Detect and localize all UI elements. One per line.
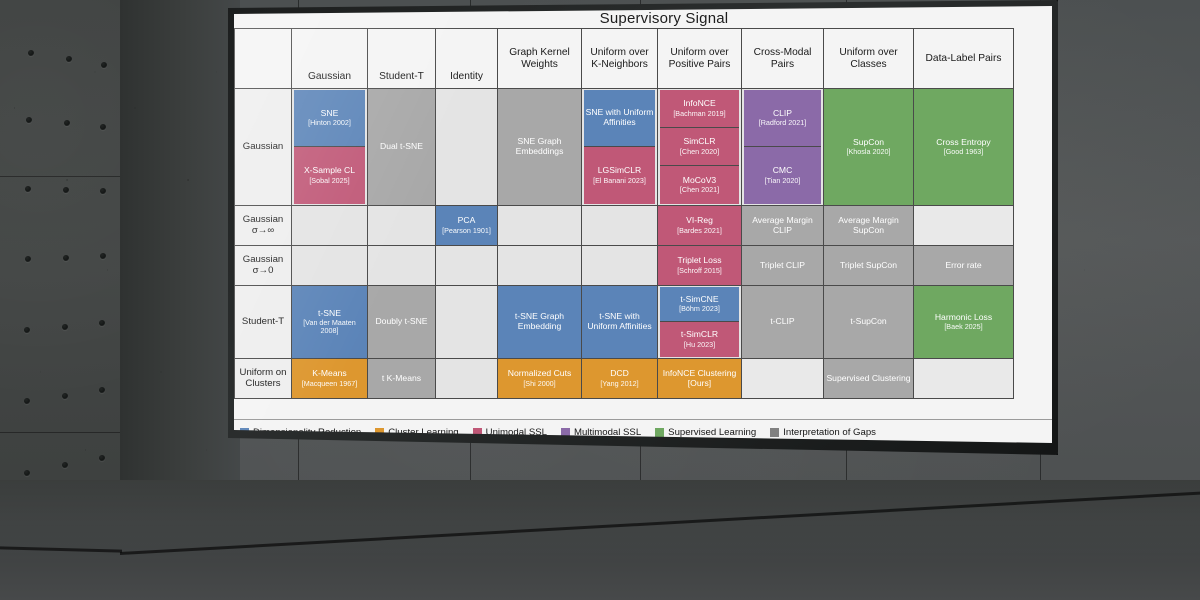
cell-reference: [Khosla 2020] — [826, 148, 911, 156]
cell-empty-r1-c1 — [368, 206, 436, 246]
cell-split-r0-c4: SNE with Uniform AffinitiesLGSimCLR[El B… — [582, 89, 658, 206]
table-row: Uniform on ClustersK-Means[Macqueen 1967… — [235, 359, 1014, 399]
cell-name: Supervised Clustering — [826, 374, 911, 384]
row-header-gaussian: Gaussian — [235, 89, 292, 206]
col-header-uniform-over-classes: Uniform over Classes — [824, 29, 914, 89]
floor-reflection — [0, 480, 1200, 600]
cell-cross-entropy: Cross Entropy[Good 1963] — [914, 89, 1014, 206]
cell-t-sne-with-uniform-affinities: t-SNE with Uniform Affinities — [582, 286, 658, 359]
cell-harmonic-loss: Harmonic Loss[Baek 2025] — [914, 286, 1014, 359]
cell-reference: [Baek 2025] — [916, 323, 1011, 331]
cell-triplet-supcon: Triplet SupCon — [824, 246, 914, 286]
cell-name: K-Means — [294, 369, 365, 379]
cell-supervised-clustering: Supervised Clustering — [824, 359, 914, 399]
col-header-identity: Identity — [436, 29, 498, 89]
cell-triplet-clip: Triplet CLIP — [742, 246, 824, 286]
legend-swatch-green-icon — [655, 428, 664, 437]
cell-name: t-SupCon — [826, 317, 911, 327]
cell-t-simclr: t-SimCLR[Hu 2023] — [660, 322, 739, 357]
cell-name: t-CLIP — [744, 317, 821, 327]
cell-reference: [Chen 2020] — [660, 148, 739, 156]
cell-lgsimclr: LGSimCLR[El Banani 2023] — [584, 147, 655, 204]
cell-empty-r1-c3 — [498, 206, 582, 246]
cell-empty-r2-c4 — [582, 246, 658, 286]
cell-name: X-Sample CL — [294, 166, 365, 176]
cell-reference: [Böhm 2023] — [660, 305, 739, 313]
cell-name: Error rate — [916, 261, 1011, 271]
cell-doubly-t-sne: Doubly t-SNE — [368, 286, 436, 359]
cell-split-r3-c5: t-SimCNE[Böhm 2023]t-SimCLR[Hu 2023] — [658, 286, 742, 359]
cell-empty-r4-c2 — [436, 359, 498, 399]
cell-pca: PCA[Pearson 1901] — [436, 206, 498, 246]
cell-reference: [Shi 2000] — [500, 380, 579, 388]
legend-label: Interpretation of Gaps — [783, 427, 876, 438]
cell-sne: SNE[Hinton 2002] — [294, 90, 365, 147]
cell-empty-r1-c0 — [292, 206, 368, 246]
cell-reference: [Tian 2020] — [744, 177, 821, 185]
cell-empty-r2-c2 — [436, 246, 498, 286]
legend-item-interpretation-of-gaps: Interpretation of Gaps — [770, 427, 876, 438]
cell-reference: [Chen 2021] — [660, 186, 739, 194]
cell-name: t K-Means — [370, 374, 433, 384]
cell-name: PCA — [438, 216, 495, 226]
cell-name: Dual t-SNE — [370, 142, 433, 152]
table-row: Gaussian σ→0Triplet Loss[Schroff 2015]Tr… — [235, 246, 1014, 286]
cell-empty-r1-c4 — [582, 206, 658, 246]
room-scene: Supervisory Signal Gaussian — [0, 0, 1200, 600]
cell-dual-t-sne: Dual t-SNE — [368, 89, 436, 206]
cell-name: Triplet CLIP — [744, 261, 821, 271]
cell-empty-r4-c6 — [742, 359, 824, 399]
table-row: Gaussian σ→∞PCA[Pearson 1901]VI-Reg[Bard… — [235, 206, 1014, 246]
cell-name: LGSimCLR — [584, 166, 655, 176]
row-header-student-t: Student-T — [235, 286, 292, 359]
cell-t-sne: t-SNE[Van der Maaten 2008] — [292, 286, 368, 359]
cell-empty-r1-c8 — [914, 206, 1014, 246]
table-row: Student-Tt-SNE[Van der Maaten 2008]Doubl… — [235, 286, 1014, 359]
cell-name: SNE with Uniform Affinities — [584, 108, 655, 127]
cell-k-means: K-Means[Macqueen 1967] — [292, 359, 368, 399]
table-row: GaussianSNE[Hinton 2002]X-Sample CL[Soba… — [235, 89, 1014, 206]
cell-infonce-clustering-ours: InfoNCE Clustering [Ours] — [658, 359, 742, 399]
cell-t-simcne: t-SimCNE[Böhm 2023] — [660, 287, 739, 322]
cell-dcd: DCD[Yang 2012] — [582, 359, 658, 399]
col-header-cross-modal-pairs: Cross-Modal Pairs — [742, 29, 824, 89]
cell-x-sample-cl: X-Sample CL[Sobal 2025] — [294, 147, 365, 204]
col-header-data-label-pairs: Data-Label Pairs — [914, 29, 1014, 89]
cell-empty-r2-c1 — [368, 246, 436, 286]
cell-empty-r3-c2 — [436, 286, 498, 359]
cell-t-supcon: t-SupCon — [824, 286, 914, 359]
cell-empty-r4-c8 — [914, 359, 1014, 399]
cell-t-clip: t-CLIP — [742, 286, 824, 359]
cell-split-r0-c6: CLIP[Radford 2021]CMC[Tian 2020] — [742, 89, 824, 206]
cell-split-r0-c5: InfoNCE[Bachman 2019]SimCLR[Chen 2020]Mo… — [658, 89, 742, 206]
cell-name: SimCLR — [660, 137, 739, 147]
cell-empty-r2-c0 — [292, 246, 368, 286]
col-header-uniform-over-k-neighbors: Uniform over K-Neighbors — [582, 29, 658, 89]
cell-split-r0-c0: SNE[Hinton 2002]X-Sample CL[Sobal 2025] — [292, 89, 368, 206]
cell-infonce: InfoNCE[Bachman 2019] — [660, 90, 739, 128]
cell-name: t-SNE with Uniform Affinities — [584, 312, 655, 331]
cell-name: InfoNCE — [660, 99, 739, 109]
col-header-student-t: Student-T — [368, 29, 436, 89]
cell-reference: [Radford 2021] — [744, 119, 821, 127]
cell-name: Normalized Cuts — [500, 369, 579, 379]
cell-name: DCD — [584, 369, 655, 379]
cell-reference: [Sobal 2025] — [294, 177, 365, 185]
cell-vi-reg: VI-Reg[Bardes 2021] — [658, 206, 742, 246]
cell-name: Triplet Loss — [660, 256, 739, 266]
cell-name: InfoNCE Clustering [Ours] — [660, 369, 739, 388]
cell-t-k-means: t K-Means — [368, 359, 436, 399]
col-header-graph-kernel-weights: Graph Kernel Weights — [498, 29, 582, 89]
cell-empty-r0-c2 — [436, 89, 498, 206]
row-header-uniform-on-clusters: Uniform on Clusters — [235, 359, 292, 399]
table-corner-cell — [235, 29, 292, 89]
cell-reference: [Van der Maaten 2008] — [294, 319, 365, 335]
table-body: GaussianSNE[Hinton 2002]X-Sample CL[Soba… — [235, 89, 1014, 399]
cell-average-margin-supcon: Average Margin SupCon — [824, 206, 914, 246]
cell-reference: [Pearson 1901] — [438, 227, 495, 235]
cell-triplet-loss: Triplet Loss[Schroff 2015] — [658, 246, 742, 286]
cell-reference: [Hu 2023] — [660, 341, 739, 349]
wall-mounted-display[interactable]: Supervisory Signal Gaussian — [228, 0, 1058, 455]
cell-sne-with-uniform-affinities: SNE with Uniform Affinities — [584, 90, 655, 147]
col-header-gaussian: Gaussian — [292, 29, 368, 89]
cell-reference: [Schroff 2015] — [660, 267, 739, 275]
cell-error-rate: Error rate — [914, 246, 1014, 286]
cell-name: VI-Reg — [660, 216, 739, 226]
cell-reference: [El Banani 2023] — [584, 177, 655, 185]
taxonomy-table: Gaussian Student-T Identity Graph Kernel… — [234, 28, 1014, 399]
table-header-row: Gaussian Student-T Identity Graph Kernel… — [235, 29, 1014, 89]
legend-label: Supervised Learning — [668, 427, 756, 438]
taxonomy-table-figure: Supervisory Signal Gaussian — [234, 6, 1052, 448]
legend-swatch-gray-icon — [770, 428, 779, 437]
display-screen[interactable]: Supervisory Signal Gaussian — [234, 6, 1052, 448]
cell-name: SNE Graph Embeddings — [500, 137, 579, 156]
cell-clip: CLIP[Radford 2021] — [744, 90, 821, 147]
row-header-gaussian: Gaussian σ→∞ — [235, 206, 292, 246]
cell-reference: [Good 1963] — [916, 148, 1011, 156]
cell-name: t-SimCLR — [660, 330, 739, 340]
col-header-uniform-over-positive-pairs: Uniform over Positive Pairs — [658, 29, 742, 89]
cell-average-margin-clip: Average Margin CLIP — [742, 206, 824, 246]
cell-t-sne-graph-embedding: t-SNE Graph Embedding — [498, 286, 582, 359]
cell-supcon: SupCon[Khosla 2020] — [824, 89, 914, 206]
cell-normalized-cuts: Normalized Cuts[Shi 2000] — [498, 359, 582, 399]
page-title: Supervisory Signal — [534, 10, 794, 27]
cell-reference: [Macqueen 1967] — [294, 380, 365, 388]
cell-name: CMC — [744, 166, 821, 176]
cell-reference: [Yang 2012] — [584, 380, 655, 388]
cell-empty-r2-c3 — [498, 246, 582, 286]
cell-reference: [Hinton 2002] — [294, 119, 365, 127]
legend-item-supervised-learning: Supervised Learning — [655, 427, 756, 438]
cell-name: Average Margin CLIP — [744, 216, 821, 235]
cell-mocov3: MoCoV3[Chen 2021] — [660, 166, 739, 204]
cell-cmc: CMC[Tian 2020] — [744, 147, 821, 204]
cell-reference: [Bardes 2021] — [660, 227, 739, 235]
cell-name: Average Margin SupCon — [826, 216, 911, 235]
cell-reference: [Bachman 2019] — [660, 110, 739, 118]
row-header-gaussian-0: Gaussian σ→0 — [235, 246, 292, 286]
cell-simclr: SimCLR[Chen 2020] — [660, 128, 739, 166]
cell-sne-graph-embeddings: SNE Graph Embeddings — [498, 89, 582, 206]
cell-name: t-SNE Graph Embedding — [500, 312, 579, 331]
cell-name: Triplet SupCon — [826, 261, 911, 271]
cell-name: Doubly t-SNE — [370, 317, 433, 327]
